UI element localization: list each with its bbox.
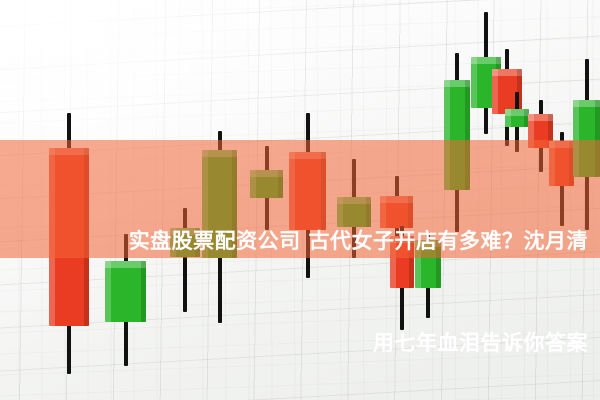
candle-body-left-face: [492, 69, 498, 114]
candle-body-top-face: [49, 148, 89, 155]
headline-text: 实盘股票配资公司 古代女子开店有多难？沈月清 用七年血泪告诉你答案: [0, 156, 600, 400]
headline-line-2: 用七年血泪告诉你答案: [0, 326, 588, 360]
candle-13-up: [505, 92, 529, 152]
candle-body-left-face: [471, 57, 477, 108]
candle-body-left-face: [528, 114, 534, 148]
banner-image: 实盘股票配资公司 古代女子开店有多难？沈月清 用七年血泪告诉你答案: [0, 0, 600, 400]
candle-body-left-face: [505, 109, 511, 127]
candle-body: [505, 109, 529, 127]
headline-line-1: 实盘股票配资公司 古代女子开店有多难？沈月清: [0, 224, 588, 258]
